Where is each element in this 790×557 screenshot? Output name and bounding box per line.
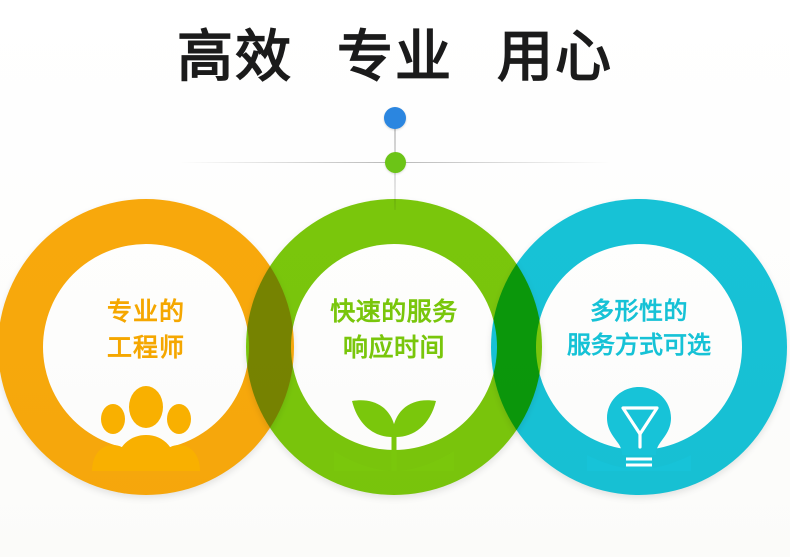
blue-dot-icon bbox=[384, 107, 406, 129]
lightbulb-icon bbox=[579, 385, 699, 471]
connector-ornament bbox=[0, 100, 790, 210]
circle-service-modes-line2: 服务方式可选 bbox=[491, 329, 787, 363]
infographic-canvas: 高效专业用心 专业的 工程师 bbox=[0, 0, 790, 557]
sprout-leaf-icon bbox=[334, 385, 454, 471]
page-title: 高效专业用心 bbox=[0, 28, 790, 87]
headline-segment-2: 专业 bbox=[315, 28, 475, 87]
circle-service-modes-caption: 多形性的 服务方式可选 bbox=[491, 295, 787, 363]
people-group-icon bbox=[86, 385, 206, 471]
circle-service-modes-line1: 多形性的 bbox=[590, 298, 688, 325]
circle-engineers-line1: 专业的 bbox=[107, 298, 185, 326]
circle-response-line1: 快速的服务 bbox=[330, 298, 458, 326]
headline-segment-1: 高效 bbox=[155, 28, 315, 87]
green-dot-icon bbox=[385, 152, 406, 173]
connector-horizontal-line bbox=[180, 162, 610, 163]
headline-segment-3: 用心 bbox=[475, 28, 635, 87]
circle-service-modes[interactable]: 多形性的 服务方式可选 bbox=[491, 199, 787, 495]
connector-vertical-line bbox=[394, 116, 396, 210]
